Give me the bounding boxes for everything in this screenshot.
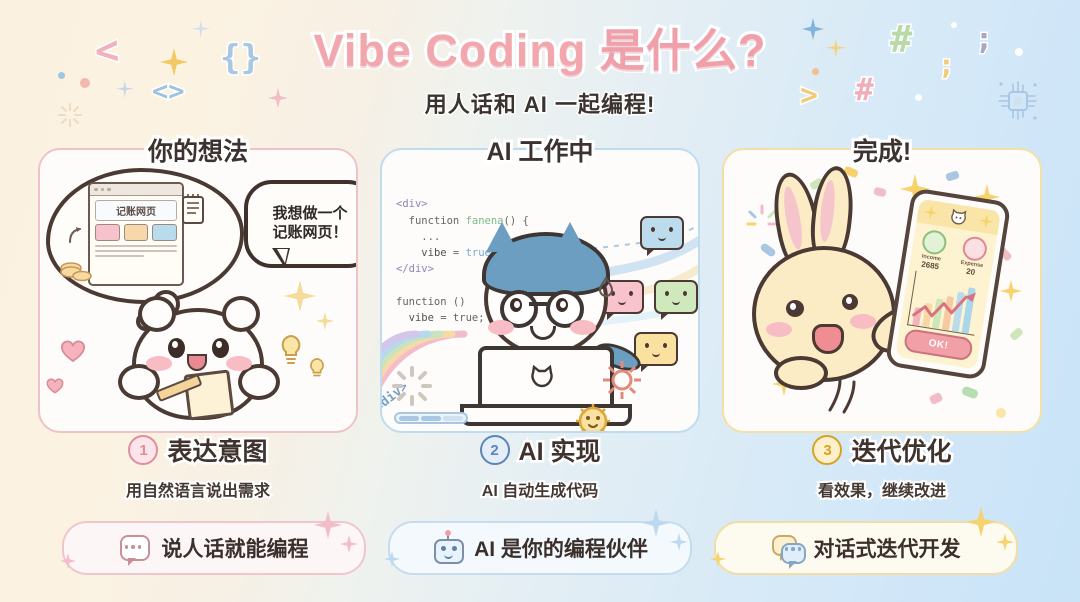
mini-card [152,224,177,241]
laptop-logo-icon [528,364,556,390]
browser-cards [90,224,182,241]
panel-title-2: AI 工作中 [487,132,594,168]
heart-icon [60,340,86,364]
sparkle-icon [284,280,316,312]
speech-line-1: 我想做一个 [272,205,347,224]
cat-avatar-icon [948,208,968,227]
rabbit-cheek-left [766,322,792,337]
motion-lines-icon [822,376,866,416]
step-3-title: 迭代优化 [851,432,951,468]
step-3-number: 3 [812,435,842,465]
browser-toolbar [90,184,182,196]
speech-bubble: 我想做一个 记账网页！ [244,180,358,268]
confetti-icon [961,386,979,400]
step-1-subtitle: 用自然语言说出需求 [38,477,358,501]
bear-cheek-right [226,356,252,371]
code-token-tag-open: <div> [396,198,428,210]
stat-income: Income 2685 [911,227,955,272]
step-1-title: 表达意图 [167,432,267,468]
sweat-drop-icon [598,276,614,298]
chat-bubble-icon [120,535,150,561]
rabbit-foot [774,356,828,390]
speech-bubble-tail [272,248,290,268]
bear-eye-left [168,338,185,358]
heart-icon [46,378,64,395]
chart-trend-line [908,271,988,336]
bear-ear [138,296,176,332]
rabbit-body [752,246,896,382]
panel-idea: 记账网页 [38,148,358,433]
title-cn: 是什么? [586,25,766,76]
glasses-bridge [529,302,547,306]
star-icon [1000,280,1022,302]
cat-eye-left [510,298,522,312]
confetti-icon [929,392,944,405]
step-1-number: 1 [128,435,158,465]
panels-row: 记账网页 [0,148,1080,438]
income-ring-icon [920,229,947,256]
code-token-function: function [409,215,460,227]
lightbulb-icon [276,332,306,368]
chat-face-blue [640,216,684,250]
pill-iterative-dev[interactable]: 对话式迭代开发 [714,521,1018,575]
stat-expense: Expense 20 [951,234,995,279]
cat-cheek-right [570,320,596,335]
steps-row: 1 表达意图 用自然语言说出需求 2 AI 实现 AI 自动生成代码 3 迭代优… [0,432,1080,501]
panel-card-3: Income 2685 Expense 20 [722,148,1042,433]
notepad-icon [180,192,206,226]
panel-ai-working: <div> function fanena() { ... vibe = tru… [380,148,700,433]
lightbulb-icon [306,356,328,382]
panel-art-idea: 记账网页 [40,150,356,431]
pill-ai-partner[interactable]: AI 是你的编程伙伴 [388,521,692,575]
bear-eye-right [212,338,229,358]
rabbit-eye-right [842,294,858,310]
sparkle-icon [966,507,996,537]
double-chat-bubble-icon [772,535,802,561]
panel-card-2: <div> function fanena() { ... vibe = tru… [380,148,700,433]
sparkle-icon [60,553,76,569]
browser-page-title: 记账网页 [95,200,177,221]
cat-cheek-left [488,320,514,335]
code-token-variable: vibe [421,247,446,259]
bear-ear [222,296,260,332]
step-2-subtitle: AI 自动生成代码 [380,477,700,501]
gear-icon [598,356,646,404]
cursor-arrow-icon [66,224,84,246]
browser-mockup: 记账网页 [88,182,184,286]
header: Vibe Coding 是什么? 用人话和 AI 一起编程! [0,0,1080,119]
star-icon [978,213,994,229]
sparkle-icon [670,533,688,551]
pill-1-label: 说人话就能编程 [162,533,309,563]
phone-mockup: Income 2685 Expense 20 [885,187,1012,380]
step-2: 2 AI 实现 AI 自动生成代码 [380,432,700,501]
coin-icon [58,258,94,284]
phone-chart [907,271,983,336]
step-2-number: 2 [480,435,510,465]
chat-face-green [654,280,698,314]
progress-bar [394,412,468,424]
panel-title-1: 你的想法 [148,132,248,168]
infographic-page: < {} <> # # ; ; > [0,0,1080,602]
rabbit-cheek-right [850,314,876,329]
phone-screen: Income 2685 Expense 20 [895,199,1001,370]
panel-title-3: 完成! [853,132,911,168]
robot-icon [432,535,462,561]
confetti-icon [873,187,887,198]
speech-line-2: 记账网页！ [272,224,347,243]
smiley-gear-icon [570,398,616,433]
mini-card [95,224,120,241]
sparkle-icon [340,535,358,553]
panel-done: Income 2685 Expense 20 [722,148,1042,433]
sparkle-icon [996,533,1014,551]
sparkle-icon [710,551,726,567]
panel-art-ai: <div> function fanena() { ... vibe = tru… [382,150,698,431]
step-3-subtitle: 看效果，继续改进 [722,477,1042,501]
pill-2-label: AI 是你的编程伙伴 [474,533,648,563]
confetti-icon [1009,327,1024,341]
cat-ear-left [486,222,518,252]
pill-3-label: 对话式迭代开发 [814,533,961,563]
cat-eye-right [556,298,568,312]
pill-plain-language[interactable]: 说人话就能编程 [62,521,366,575]
confetti-dot [996,408,1006,418]
step-3-head: 3 迭代优化 [722,432,1042,468]
mini-card [124,224,149,241]
sparkle-icon [384,551,400,567]
browser-text-lines [90,241,182,257]
page-subtitle: 用人话和 AI 一起编程! [0,87,1080,119]
panel-card-1: 记账网页 [38,148,358,433]
title-en: Vibe Coding [314,25,587,76]
sparkle-icon [316,312,334,330]
pills-row: 说人话就能编程 AI 是你的编程伙伴 对话式迭代开发 [0,521,1080,575]
step-1-head: 1 表达意图 [38,432,358,468]
cat-ear-right [554,222,586,252]
panel-art-done: Income 2685 Expense 20 [724,150,1040,431]
star-icon [923,204,939,220]
page-title: Vibe Coding 是什么? [0,14,1080,79]
bear-cheek-left [146,356,172,371]
expense-ring-icon [961,235,988,262]
confetti-icon [945,170,960,182]
confetti-icon [759,242,777,258]
code-token-tag-close: </div> [396,263,434,275]
step-1: 1 表达意图 用自然语言说出需求 [38,432,358,501]
step-2-head: 2 AI 实现 [380,432,700,468]
step-2-title: AI 实现 [519,432,601,468]
step-3: 3 迭代优化 看效果，继续改进 [722,432,1042,501]
rabbit-eye-left [786,300,804,317]
code-token-ellipsis: ... [421,231,440,243]
sparkle-icon [314,511,342,539]
loading-spinner-icon [388,362,436,410]
